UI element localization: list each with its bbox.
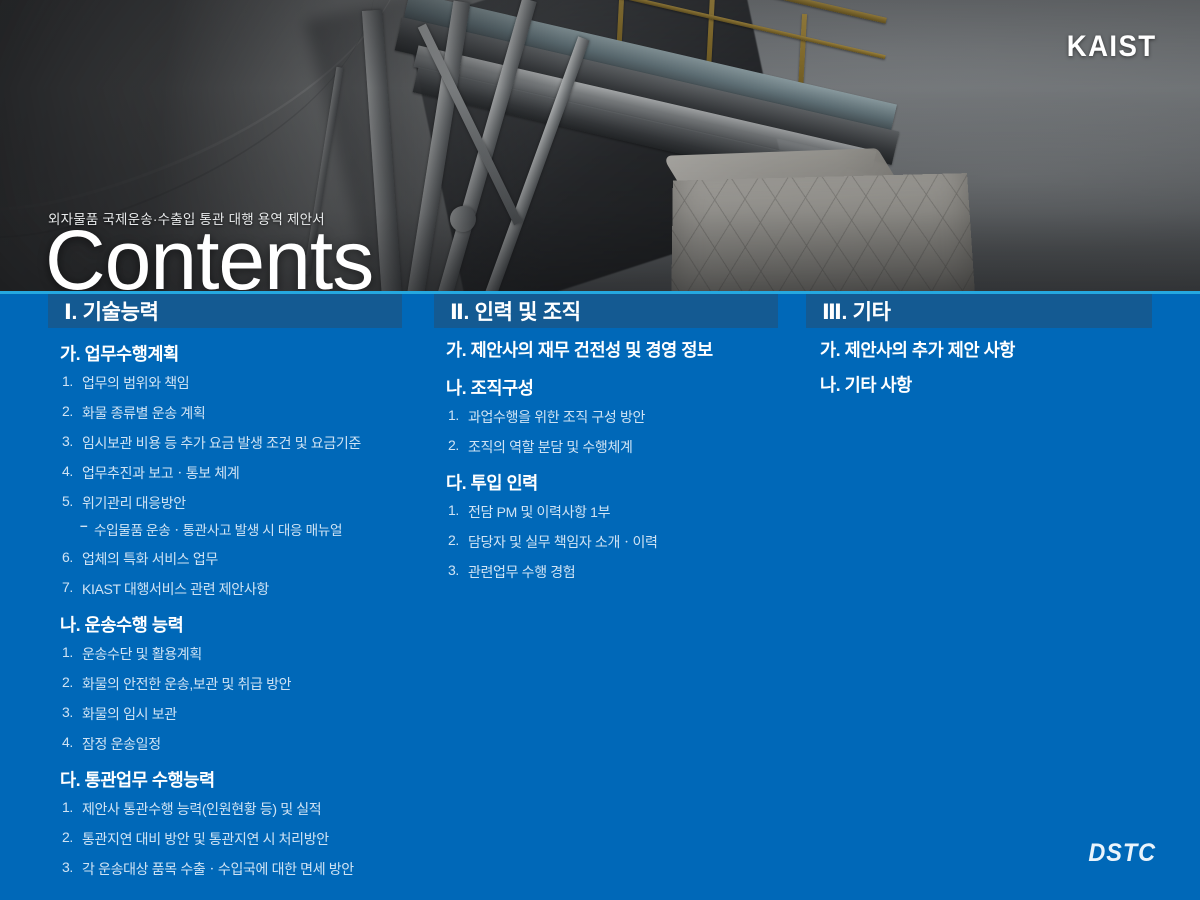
toc-item-list: 1.과업수행을 위한 조직 구성 방안2.조직의 역할 분담 및 수행체계: [434, 407, 778, 457]
toc-item-number: 4.: [62, 463, 73, 479]
toc-item-number: 5.: [62, 493, 73, 509]
hero-photo-banner: 외자물품 국제운송·수출입 통관 대행 용역 제안서 Contents KAIS…: [0, 0, 1200, 293]
toc-item-label: 업체의 특화 서비스 업무: [82, 551, 218, 567]
toc-item-label: 담당자 및 실무 책임자 소개ㆍ이력: [468, 534, 658, 550]
toc-item[interactable]: 1.전담 PM 및 이력사항 1부: [434, 502, 778, 522]
toc-group: 나. 운송수행 능력1.운송수단 및 활용계획2.화물의 안전한 운송,보관 및…: [48, 612, 402, 754]
toc-item-label: 업무추진과 보고ㆍ통보 체계: [82, 465, 239, 481]
toc-item-number: 1.: [448, 407, 459, 423]
toc-item-number: 1.: [62, 373, 73, 389]
dash-bullet-icon: –: [80, 518, 87, 533]
section-title: Ⅰ. 기술능력: [64, 296, 159, 326]
toc-item-number: 3.: [62, 704, 73, 720]
toc-item[interactable]: 3.임시보관 비용 등 추가 요금 발생 조건 및 요금기준: [48, 433, 402, 453]
toc-sub-item-label: 수입물품 운송ㆍ통관사고 발생 시 대응 매뉴얼: [94, 523, 342, 538]
toc-item-number: 2.: [62, 829, 73, 845]
toc-item[interactable]: 3.관련업무 수행 경험: [434, 562, 778, 582]
toc-item[interactable]: 1.제안사 통관수행 능력(인원현황 등) 및 실적: [48, 799, 402, 819]
toc-group-heading[interactable]: 가. 제안사의 재무 건전성 및 경영 정보: [434, 337, 778, 362]
presentation-slide: 외자물품 국제운송·수출입 통관 대행 용역 제안서 Contents KAIS…: [0, 0, 1200, 900]
toc-item-label: 조직의 역할 분담 및 수행체계: [468, 439, 633, 455]
toc-group-heading[interactable]: 가. 제안사의 추가 제안 사항: [806, 337, 1152, 362]
toc-group: 나. 조직구성1.과업수행을 위한 조직 구성 방안2.조직의 역할 분담 및 …: [434, 375, 778, 457]
section-title: Ⅲ. 기타: [822, 296, 891, 326]
toc-item[interactable]: 1.과업수행을 위한 조직 구성 방안: [434, 407, 778, 427]
toc-item-label: KIAST 대행서비스 관련 제안사항: [82, 581, 269, 597]
toc-column-1: Ⅰ. 기술능력가. 업무수행계획1.업무의 범위와 책임2.화물 종류별 운송 …: [48, 294, 402, 889]
dstc-logo: DSTC: [1088, 839, 1156, 868]
toc-item-label: 화물의 임시 보관: [82, 706, 177, 722]
toc-item-number: 6.: [62, 549, 73, 565]
toc-item[interactable]: 7.KIAST 대행서비스 관련 제안사항: [48, 579, 402, 599]
toc-group-heading[interactable]: 가. 업무수행계획: [48, 341, 402, 366]
toc-item-label: 통관지연 대비 방안 및 통관지연 시 처리방안: [82, 831, 329, 847]
toc-item-number: 2.: [448, 532, 459, 548]
toc-item[interactable]: 5.위기관리 대응방안: [48, 493, 402, 513]
toc-sub-item[interactable]: –수입물품 운송ㆍ통관사고 발생 시 대응 매뉴얼: [48, 519, 402, 539]
toc-item-number: 1.: [62, 799, 73, 815]
toc-item-number: 3.: [62, 859, 73, 875]
section-header-bar-2: Ⅱ. 인력 및 조직: [434, 294, 778, 328]
toc-item-label: 잠정 운송일정: [82, 736, 161, 752]
toc-group: 나. 기타 사항: [806, 372, 1152, 397]
toc-group: 다. 투입 인력1.전담 PM 및 이력사항 1부2.담당자 및 실무 책임자 …: [434, 470, 778, 582]
toc-item-label: 임시보관 비용 등 추가 요금 발생 조건 및 요금기준: [82, 435, 361, 451]
toc-item-number: 2.: [62, 674, 73, 690]
section-header-bar-1: Ⅰ. 기술능력: [48, 294, 402, 328]
toc-item-number: 7.: [62, 579, 73, 595]
toc-column-2: Ⅱ. 인력 및 조직가. 제안사의 재무 건전성 및 경영 정보나. 조직구성1…: [434, 294, 778, 592]
toc-item-number: 3.: [448, 562, 459, 578]
toc-item-label: 업무의 범위와 책임: [82, 375, 189, 391]
toc-item-label: 각 운송대상 품목 수출ㆍ수입국에 대한 면세 방안: [82, 861, 354, 877]
toc-item[interactable]: 2.화물 종류별 운송 계획: [48, 403, 402, 423]
toc-item-number: 3.: [62, 433, 73, 449]
toc-item-number: 2.: [62, 403, 73, 419]
toc-item-number: 2.: [448, 437, 459, 453]
toc-item[interactable]: 4.잠정 운송일정: [48, 734, 402, 754]
toc-item-label: 화물의 안전한 운송,보관 및 취급 방안: [82, 676, 291, 692]
section-header-bar-3: Ⅲ. 기타: [806, 294, 1152, 328]
toc-group: 가. 업무수행계획1.업무의 범위와 책임2.화물 종류별 운송 계획3.임시보…: [48, 341, 402, 599]
toc-item-list: 1.운송수단 및 활용계획2.화물의 안전한 운송,보관 및 취급 방안3.화물…: [48, 644, 402, 754]
toc-group-heading[interactable]: 나. 운송수행 능력: [48, 612, 402, 637]
toc-item-label: 위기관리 대응방안: [82, 495, 186, 511]
toc-item[interactable]: 2.조직의 역할 분담 및 수행체계: [434, 437, 778, 457]
toc-group-heading[interactable]: 나. 조직구성: [434, 375, 778, 400]
toc-item[interactable]: 4.업무추진과 보고ㆍ통보 체계: [48, 463, 402, 483]
toc-item-label: 화물 종류별 운송 계획: [82, 405, 205, 421]
toc-item[interactable]: 2.화물의 안전한 운송,보관 및 취급 방안: [48, 674, 402, 694]
toc-item-label: 운송수단 및 활용계획: [82, 646, 202, 662]
toc-item-number: 1.: [62, 644, 73, 660]
toc-group: 다. 통관업무 수행능력1.제안사 통관수행 능력(인원현황 등) 및 실적2.…: [48, 767, 402, 879]
toc-item[interactable]: 1.업무의 범위와 책임: [48, 373, 402, 393]
toc-item[interactable]: 2.담당자 및 실무 책임자 소개ㆍ이력: [434, 532, 778, 552]
page-title: Contents: [45, 218, 373, 293]
toc-item-list: 1.업무의 범위와 책임2.화물 종류별 운송 계획3.임시보관 비용 등 추가…: [48, 373, 402, 599]
toc-item-number: 1.: [448, 502, 459, 518]
section-title: Ⅱ. 인력 및 조직: [450, 296, 581, 326]
toc-item[interactable]: 3.화물의 임시 보관: [48, 704, 402, 724]
toc-group: 가. 제안사의 재무 건전성 및 경영 정보: [434, 337, 778, 362]
toc-item[interactable]: 2.통관지연 대비 방안 및 통관지연 시 처리방안: [48, 829, 402, 849]
toc-column-3: Ⅲ. 기타가. 제안사의 추가 제안 사항나. 기타 사항: [806, 294, 1152, 407]
toc-item-list: 1.제안사 통관수행 능력(인원현황 등) 및 실적2.통관지연 대비 방안 및…: [48, 799, 402, 879]
toc-item[interactable]: 1.운송수단 및 활용계획: [48, 644, 402, 664]
toc-item-label: 관련업무 수행 경험: [468, 564, 575, 580]
toc-item-label: 전담 PM 및 이력사항 1부: [468, 504, 610, 520]
toc-item[interactable]: 3.각 운송대상 품목 수출ㆍ수입국에 대한 면세 방안: [48, 859, 402, 879]
toc-item-number: 4.: [62, 734, 73, 750]
toc-item-list: 1.전담 PM 및 이력사항 1부2.담당자 및 실무 책임자 소개ㆍ이력3.관…: [434, 502, 778, 582]
toc-item-label: 과업수행을 위한 조직 구성 방안: [468, 409, 645, 425]
toc-group-heading[interactable]: 다. 통관업무 수행능력: [48, 767, 402, 792]
toc-item-label: 제안사 통관수행 능력(인원현황 등) 및 실적: [82, 801, 321, 817]
toc-group-heading[interactable]: 나. 기타 사항: [806, 372, 1152, 397]
contents-body: Ⅰ. 기술능력가. 업무수행계획1.업무의 범위와 책임2.화물 종류별 운송 …: [0, 294, 1200, 900]
toc-item[interactable]: 6.업체의 특화 서비스 업무: [48, 549, 402, 569]
kaist-logo: KAIST: [1066, 30, 1156, 64]
toc-group-heading[interactable]: 다. 투입 인력: [434, 470, 778, 495]
toc-group: 가. 제안사의 추가 제안 사항: [806, 337, 1152, 362]
